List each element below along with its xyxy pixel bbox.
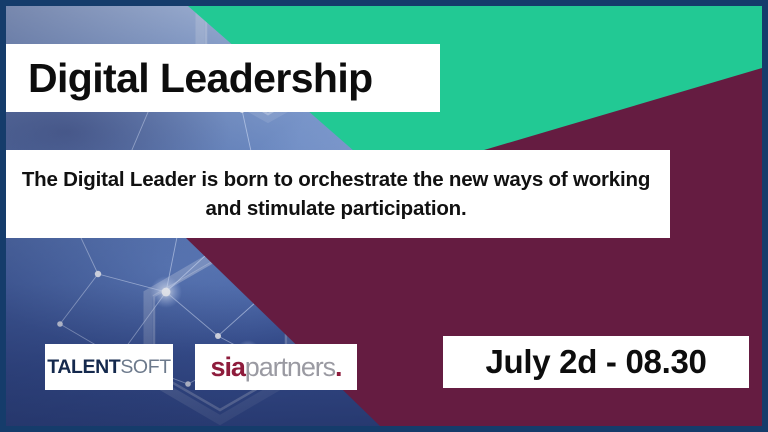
poster-canvas: Digital Leadership The Digital Leader is… xyxy=(0,0,768,432)
siapartners-wordmark-dot: . xyxy=(335,352,341,382)
poster-stage: Digital Leadership The Digital Leader is… xyxy=(6,6,762,426)
siapartners-wordmark-bold: sia xyxy=(211,352,245,382)
poster-subtitle-banner: The Digital Leader is born to orchestrat… xyxy=(6,150,670,238)
poster-date-banner: July 2d - 08.30 xyxy=(443,336,749,388)
poster-subtitle: The Digital Leader is born to orchestrat… xyxy=(16,165,656,223)
event-date: July 2d - 08.30 xyxy=(485,343,706,381)
siapartners-wordmark: siapartners. xyxy=(211,352,342,383)
talentsoft-wordmark-bold: TALENT xyxy=(47,356,120,378)
talentsoft-wordmark-light: SOFT xyxy=(120,356,170,378)
siapartners-wordmark-light: partners xyxy=(245,352,335,382)
poster-title-banner: Digital Leadership xyxy=(6,44,440,112)
sponsor-logo-siapartners: siapartners. xyxy=(195,344,357,390)
page-title: Digital Leadership xyxy=(28,58,373,99)
talentsoft-wordmark: TALENTSOFT xyxy=(47,356,170,379)
sponsor-logo-talentsoft: TALENTSOFT xyxy=(45,344,173,390)
